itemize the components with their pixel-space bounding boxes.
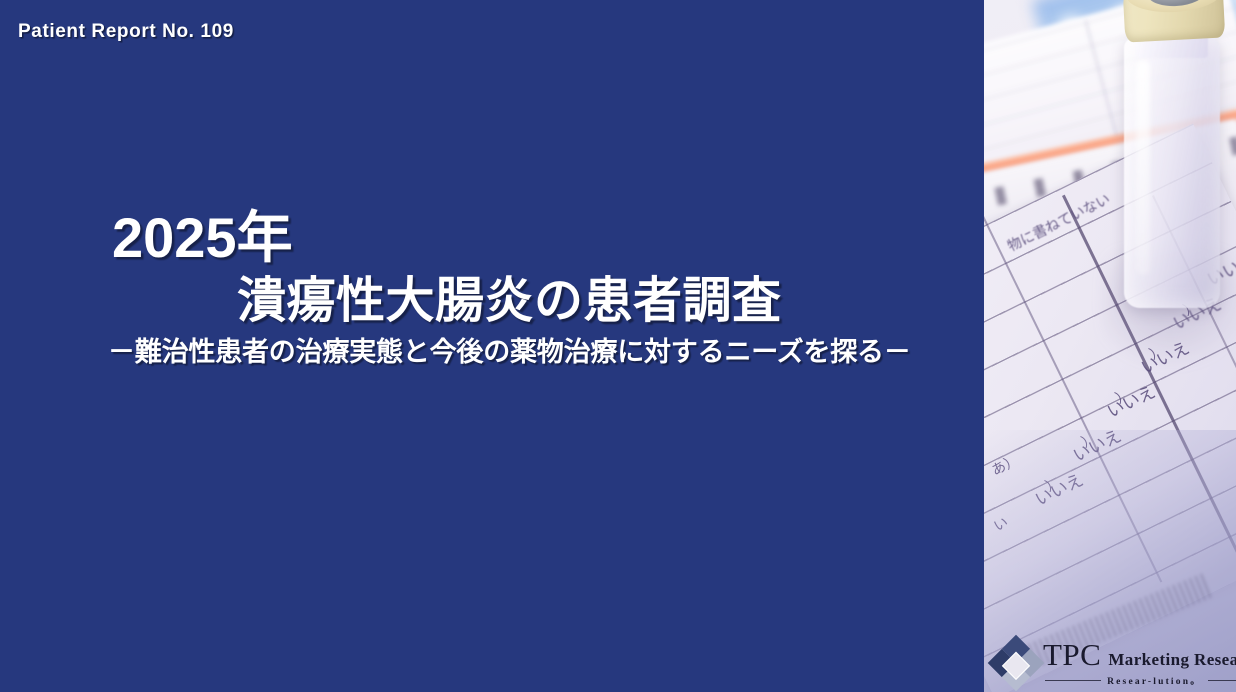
title-slide: Patient Report No. 109 2025年 潰瘍性大腸炎の患者調査… [0, 0, 1236, 692]
tpc-logo-text: TPC Marketing Research Resear-lution。 [1043, 639, 1236, 687]
title-year: 2025年 [0, 207, 984, 269]
tpc-company-name: Marketing Research [1108, 651, 1236, 668]
tpc-tagline: Resear-lution。 [1101, 673, 1208, 687]
photo-panel: 物に書ねていない いいえ いいえ いいえ いいえ いいえ いいえ ） ） ） ）… [984, 0, 1236, 692]
title-main: 潰瘍性大腸炎の患者調査 [0, 269, 984, 329]
report-number-label: Patient Report No. 109 [18, 21, 234, 43]
tpc-logo: TPC Marketing Research Resear-lution。 [996, 641, 1232, 685]
tagline-rule-left [1045, 680, 1101, 681]
tpc-logo-tagline-line: Resear-lution。 [1043, 673, 1236, 687]
tpc-diamond-icon [988, 635, 1045, 692]
vial-highlight [1136, 60, 1150, 275]
tpc-logo-primary-line: TPC Marketing Research [1043, 639, 1236, 670]
tagline-rule-right [1208, 680, 1236, 681]
title-subtitle: －難治性患者の治療実態と今後の薬物治療に対するニーズを探る－ [0, 329, 984, 368]
tpc-initials: TPC [1043, 639, 1101, 670]
title-block: 2025年 潰瘍性大腸炎の患者調査 －難治性患者の治療実態と今後の薬物治療に対す… [0, 207, 984, 368]
